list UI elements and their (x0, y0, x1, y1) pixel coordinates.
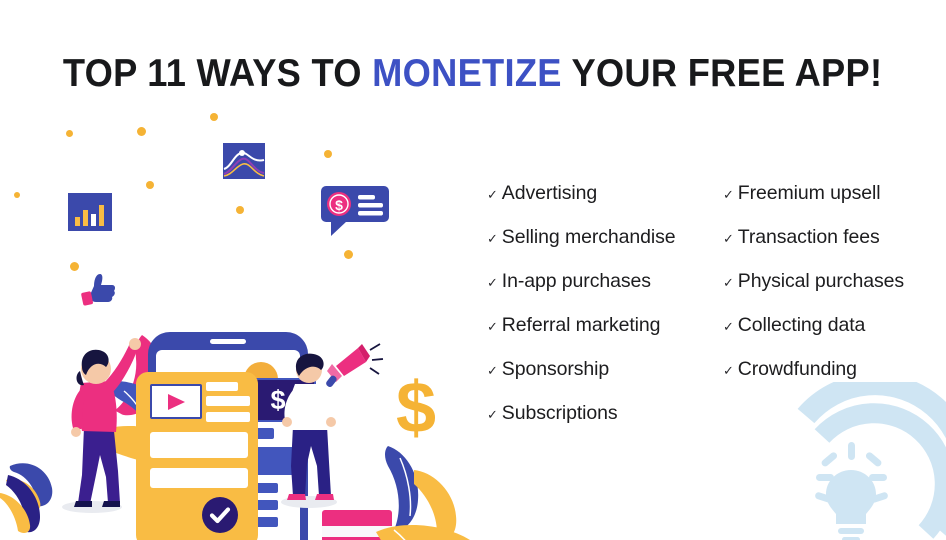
decorative-dot (70, 262, 79, 271)
check-icon: ✓ (723, 276, 734, 289)
monetization-list-left: ✓ Advertising ✓ Selling merchandise ✓ In… (487, 184, 676, 448)
list-item[interactable]: ✓ Physical purchases (723, 272, 904, 316)
list-item-label: Crowdfunding (738, 360, 857, 380)
check-icon: ✓ (723, 232, 734, 245)
svg-text:$: $ (335, 197, 343, 213)
speech-bubble-money-icon: $ (321, 186, 391, 243)
check-icon: ✓ (723, 188, 734, 201)
list-item[interactable]: ✓ Sponsorship (487, 360, 676, 404)
decorative-dot (137, 127, 146, 136)
check-icon: ✓ (487, 320, 498, 333)
foliage-right (370, 440, 480, 540)
play-button-icon[interactable] (150, 384, 202, 419)
play-triangle-icon (168, 394, 185, 410)
lightbulb-arcs-logo-icon (744, 382, 946, 540)
card-text-bar (206, 396, 250, 406)
card-text-bar (206, 412, 250, 422)
check-icon: ✓ (487, 276, 498, 289)
bar-chart-card-icon (68, 193, 112, 236)
check-badge-icon (202, 497, 238, 533)
list-item[interactable]: ✓ Referral marketing (487, 316, 676, 360)
list-item-label: In-app purchases (502, 272, 651, 292)
check-icon: ✓ (487, 188, 498, 201)
list-item-label: Advertising (502, 184, 597, 204)
decorative-dot (236, 206, 244, 214)
big-dollar-sign: $ (396, 372, 436, 444)
check-icon: ✓ (723, 320, 734, 333)
phone-speaker (210, 339, 246, 344)
card-field (150, 468, 248, 488)
list-item-label: Freemium upsell (738, 184, 881, 204)
megaphone-icon (322, 342, 384, 401)
page-title-part1: TOP 11 WAYS TO (63, 52, 372, 95)
list-item[interactable]: ✓ Collecting data (723, 316, 904, 360)
infographic-canvas: TOP 11 WAYS TO MONETIZE YOUR FREE APP! (0, 0, 946, 540)
list-item[interactable]: ✓ Subscriptions (487, 404, 676, 448)
list-item-label: Physical purchases (738, 272, 904, 292)
list-item-label: Subscriptions (502, 404, 618, 424)
decorative-dot (344, 250, 353, 259)
list-item[interactable]: ✓ Selling merchandise (487, 228, 676, 272)
list-item[interactable]: ✓ Transaction fees (723, 228, 904, 272)
card-text-bar (206, 382, 238, 391)
check-icon: ✓ (487, 232, 498, 245)
list-item-label: Referral marketing (502, 316, 661, 336)
decorative-dot (14, 192, 20, 198)
decorative-dot (210, 113, 218, 121)
list-item-label: Selling merchandise (502, 228, 676, 248)
check-icon: ✓ (723, 364, 734, 377)
monetization-list-right: ✓ Freemium upsell ✓ Transaction fees ✓ P… (723, 184, 904, 404)
list-item[interactable]: ✓ In-app purchases (487, 272, 676, 316)
foliage-corner (0, 465, 62, 535)
list-item-label: Transaction fees (738, 228, 880, 248)
check-icon: ✓ (487, 364, 498, 377)
page-title-accent: MONETIZE (373, 52, 563, 95)
line-chart-card-icon (223, 143, 265, 184)
decorative-dot (324, 150, 332, 158)
list-item[interactable]: ✓ Crowdfunding (723, 360, 904, 404)
app-card (136, 372, 258, 540)
check-icon: ✓ (487, 408, 498, 421)
card-field (150, 432, 248, 458)
page-title-part2: YOUR FREE APP! (562, 52, 883, 95)
page-title: TOP 11 WAYS TO MONETIZE YOUR FREE APP! (0, 52, 946, 96)
thumbs-up-icon (80, 272, 118, 313)
list-item-label: Sponsorship (502, 360, 609, 380)
list-item-label: Collecting data (738, 316, 866, 336)
decorative-dot (66, 130, 73, 137)
decorative-dot (146, 181, 154, 189)
monetization-illustration: $ (0, 110, 470, 540)
list-item[interactable]: ✓ Advertising (487, 184, 676, 228)
list-item[interactable]: ✓ Freemium upsell (723, 184, 904, 228)
